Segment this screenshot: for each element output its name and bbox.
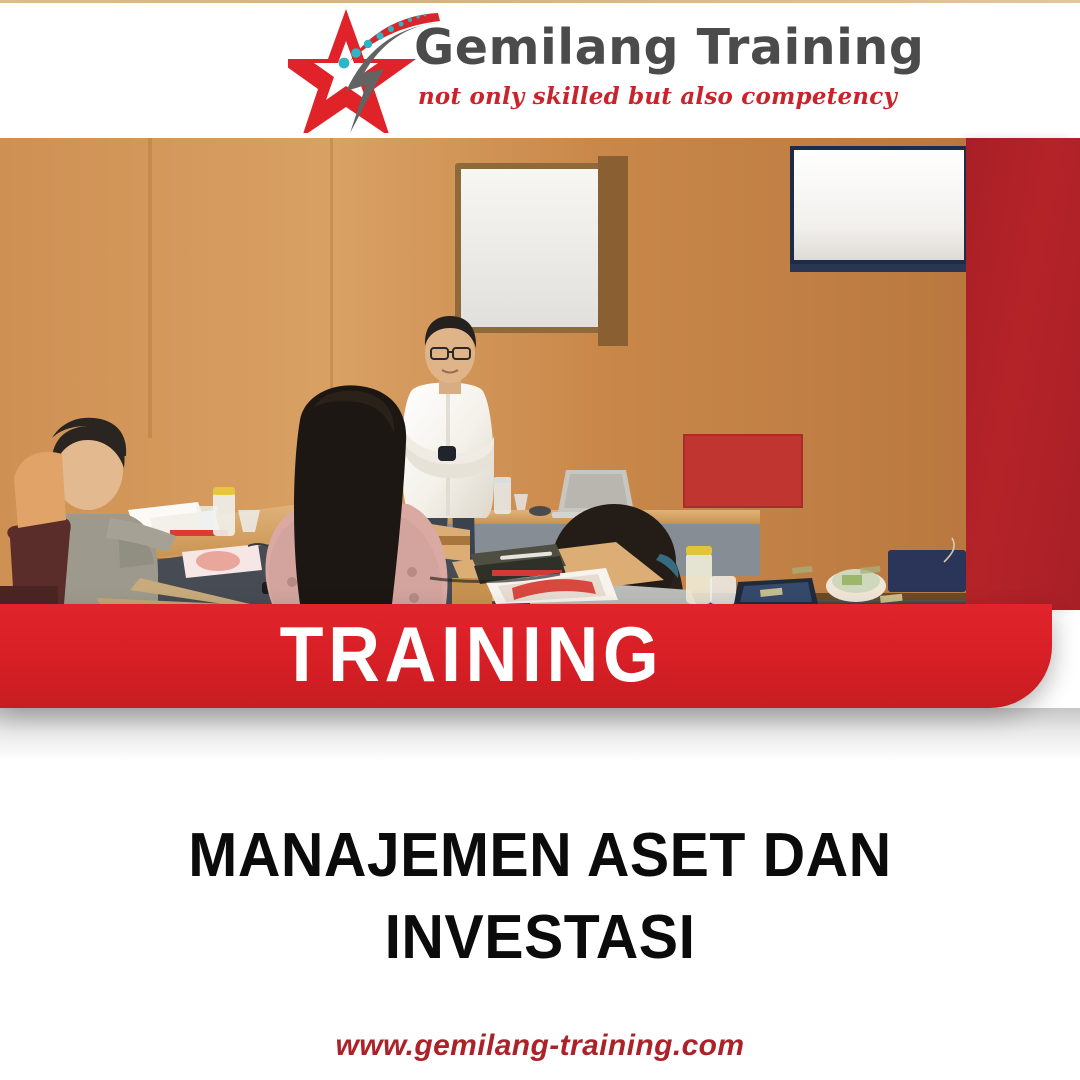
training-photo [0,138,966,604]
header-logo-band: Gemilang Training not only skilled but a… [0,3,1080,138]
banner-under-gradient [0,708,1080,762]
course-title: MANAJEMEN ASET DAN INVESTASI [0,815,1080,979]
banner-label: TRAINING [279,615,663,697]
training-banner: TRAINING [0,604,1052,708]
brand-name: Gemilang Training [414,23,924,72]
right-red-accent-panel [965,138,1080,610]
course-title-line-2: INVESTASI [27,897,1053,979]
brand-tagline: not only skilled but also competency [418,85,897,108]
brand-logo[interactable]: Gemilang Training not only skilled but a… [288,5,808,133]
course-title-line-1: MANAJEMEN ASET DAN [27,815,1053,897]
website-url[interactable]: www.gemilang-training.com [0,1029,1080,1063]
training-flyer-poster: Gemilang Training not only skilled but a… [0,0,1080,1080]
